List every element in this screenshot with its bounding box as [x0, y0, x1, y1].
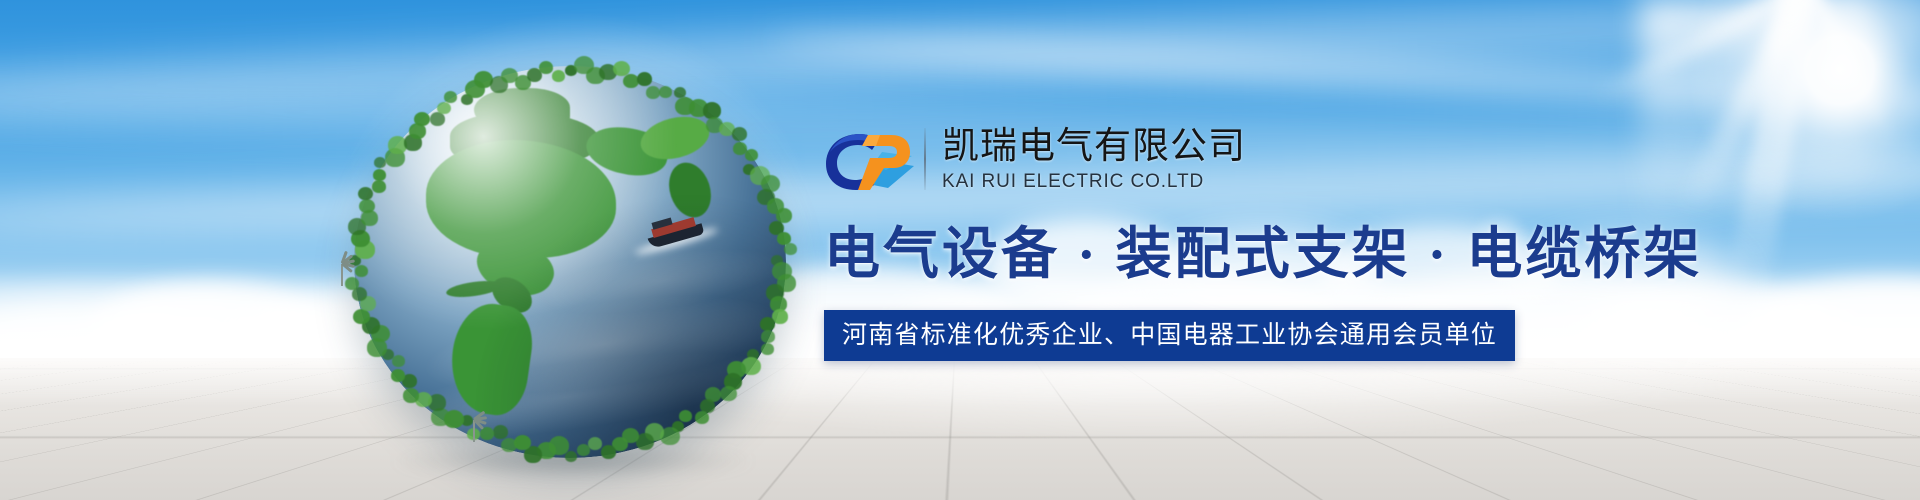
floor-horizon-fade	[0, 358, 1920, 500]
credential-badge-label: 河南省标准化优秀企业、中国电器工业协会通用会员单位	[842, 321, 1497, 349]
palm-tree-bottom-icon	[460, 418, 490, 448]
globe-tree	[703, 102, 721, 119]
globe-tree	[552, 70, 565, 82]
globe-tree	[353, 309, 370, 325]
globe-tree	[761, 343, 774, 355]
globe-tree	[437, 102, 451, 115]
earth-globe	[332, 52, 810, 470]
hero-banner: 凯瑞电气有限公司 KAI RUI ELECTRIC CO.LTD 电气设备 · …	[0, 0, 1920, 500]
globe-tree	[588, 437, 602, 450]
credential-badge: 河南省标准化优秀企业、中国电器工业协会通用会员单位	[824, 310, 1515, 361]
globe-tree	[679, 410, 692, 422]
globe-tree	[358, 187, 373, 201]
globe-tree	[577, 444, 590, 456]
banner-content: 凯瑞电气有限公司 KAI RUI ELECTRIC CO.LTD 电气设备 · …	[824, 118, 1584, 361]
brand-lockup: 凯瑞电气有限公司 KAI RUI ELECTRIC CO.LTD	[824, 118, 1584, 200]
company-name-en: KAI RUI ELECTRIC CO.LTD	[942, 170, 1246, 194]
cr-monogram-logo-icon	[824, 126, 916, 192]
globe-tree	[430, 112, 445, 126]
globe-tree	[501, 438, 517, 453]
globe-tree	[414, 112, 430, 127]
globe-tree	[646, 86, 660, 99]
globe-tree	[732, 127, 747, 141]
globe-tree	[539, 61, 553, 74]
globe-tree	[372, 180, 386, 193]
globe-tree	[359, 199, 375, 214]
globe-tree	[392, 355, 405, 367]
globe-tree	[403, 388, 419, 403]
plaza-floor	[0, 358, 1920, 500]
globe-tree	[444, 91, 457, 103]
globe-tree	[784, 243, 797, 255]
globe-tree	[772, 309, 788, 324]
globe-tree-ring	[332, 52, 810, 470]
headline-slogan: 电气设备 · 装配式支架 · 电缆桥架	[824, 222, 1584, 288]
globe-tree	[720, 386, 737, 402]
globe-tree	[659, 86, 672, 98]
globe-tree	[761, 330, 775, 343]
palm-tree-left-icon	[328, 262, 358, 292]
globe-tree	[493, 425, 508, 439]
globe-tree	[373, 169, 386, 181]
globe-tree	[695, 411, 709, 424]
company-name-cn: 凯瑞电气有限公司	[942, 125, 1246, 167]
globe-tree	[745, 149, 758, 161]
globe-tree	[637, 72, 652, 86]
globe-tree	[431, 408, 450, 425]
globe-tree	[760, 317, 775, 331]
brand-text: 凯瑞电气有限公司 KAI RUI ELECTRIC CO.LTD	[942, 125, 1246, 194]
globe-tree	[601, 445, 616, 459]
brand-divider	[924, 128, 926, 190]
globe-tree	[391, 369, 405, 382]
globe-tree	[565, 451, 577, 462]
